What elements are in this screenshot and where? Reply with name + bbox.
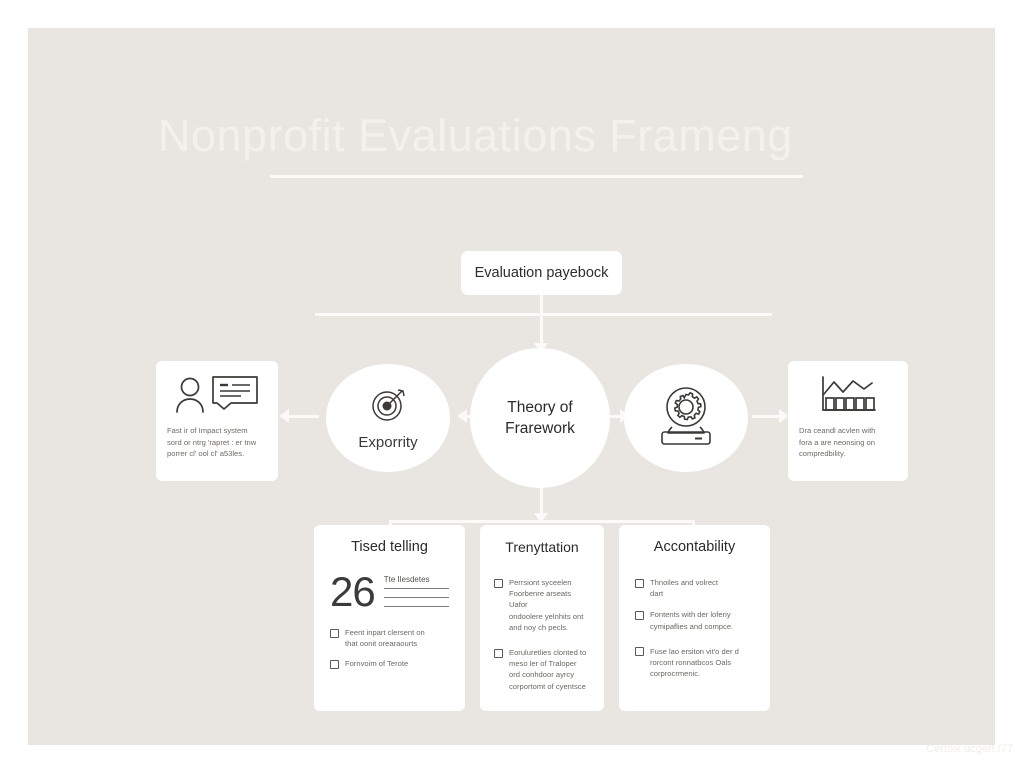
checkbox-icon[interactable]: [635, 611, 644, 620]
page-title: Nonprofit Evaluations Frameng: [158, 106, 918, 166]
stat-block: 26 Tte Ilesdetes: [330, 571, 449, 613]
bottom-card-trenyttation[interactable]: Trenyttation Perrsiont syceelenFoorbenre…: [480, 525, 604, 711]
list-item[interactable]: Fuse lao ersiton vit'o der drorcont ronn…: [635, 646, 754, 680]
checkbox-icon[interactable]: [635, 647, 644, 656]
right-info-card[interactable]: Dra ceandl acvlen with fora a are neonsi…: [788, 361, 908, 481]
left-info-line: Fast ir of Impact system: [167, 425, 267, 437]
right-info-line: Dra ceandl acvlen with: [799, 425, 897, 437]
list-item[interactable]: Fontents with der loferiycymipaflies and…: [635, 609, 754, 631]
checklist: Thnoiles and volrectdart Fontents with d…: [635, 577, 754, 679]
bottom-card-accontability[interactable]: Accontability Thnoiles and volrectdart F…: [619, 525, 770, 711]
right-info-card-text: Dra ceandl acvlen with fora a are neonsi…: [799, 425, 897, 460]
stat-detail: Tte Ilesdetes: [384, 571, 449, 607]
left-info-line: porrer cl' ool cl' a53les.: [167, 448, 267, 460]
slide-canvas: Nonprofit Evaluations Frameng Evaluation…: [28, 28, 995, 745]
list-item[interactable]: Eoruluretlies clonted tomeso ler of Tral…: [494, 647, 590, 692]
right-info-line: compredbility.: [799, 448, 897, 460]
person-speech-bubble-icon: [167, 374, 267, 414]
checkbox-icon[interactable]: [330, 660, 339, 669]
title-underline: [270, 175, 803, 178]
stat-rule: [384, 606, 449, 607]
bottom-card-tised-telling[interactable]: Tised telling 26 Tte Ilesdetes Feent inp…: [314, 525, 465, 711]
slide-root: Nonprofit Evaluations Frameng Evaluation…: [0, 0, 1024, 768]
left-info-card-text: Fast ir of Impact system sord or ntrg 'r…: [167, 425, 267, 460]
connector-right-circle-to-card: [752, 415, 781, 418]
checklist: Feent inpart clersent onthat oonit orear…: [330, 627, 449, 670]
left-info-line: sord or ntrg 'rapret : er tnw: [167, 437, 267, 449]
connector-left-circle-to-card: [286, 415, 319, 418]
checkbox-icon[interactable]: [494, 649, 503, 658]
connector-pill-stem: [540, 295, 543, 314]
connector-horizontal-spine: [315, 313, 772, 316]
list-item-label: Fornvoim of Terote: [345, 658, 408, 669]
list-item[interactable]: Thnoiles and volrectdart: [635, 577, 754, 599]
list-item-label: Eoruluretlies clonted tomeso ler of Tral…: [509, 647, 586, 692]
stat-rule: [384, 588, 449, 589]
bottom-card-title: Trenyttation: [494, 539, 590, 555]
list-item-label: Feent inpart clersent onthat oonit orear…: [345, 627, 425, 649]
list-item-label: Fuse lao ersiton vit'o der drorcont ronn…: [650, 646, 739, 680]
bottom-card-title: Accontability: [635, 539, 754, 555]
checkbox-icon[interactable]: [494, 579, 503, 588]
circle-node-operations[interactable]: [624, 364, 748, 472]
circle-node-label: Exporrity: [358, 434, 417, 451]
stat-rule: [384, 597, 449, 598]
evaluation-playbook-label: Evaluation payebock: [475, 265, 609, 281]
bottom-card-title: Tised telling: [330, 539, 449, 555]
evaluation-playbook-box[interactable]: Evaluation payebock: [461, 251, 622, 295]
checkbox-icon[interactable]: [330, 629, 339, 638]
stat-number: 26: [330, 571, 375, 613]
arrow-left-icon: [457, 409, 467, 423]
list-item[interactable]: Perrsiont syceelenFoorbenre arseats Uafo…: [494, 577, 590, 633]
list-item-label: Fontents with der loferiycymipaflies and…: [650, 609, 733, 631]
left-info-card[interactable]: Fast ir of Impact system sord or ntrg 'r…: [156, 361, 278, 481]
right-info-line: fora a are neonsing on: [799, 437, 897, 449]
connector-bracket-horizontal: [389, 520, 695, 523]
checklist: Perrsiont syceelenFoorbenre arseats Uafo…: [494, 577, 590, 692]
stat-caption: Tte Ilesdetes: [384, 575, 449, 584]
list-item-label: Perrsiont syceelenFoorbenre arseats Uafo…: [509, 577, 590, 633]
center-circle-line-2: Frarework: [505, 418, 575, 439]
list-item[interactable]: Feent inpart clersent onthat oonit orear…: [330, 627, 449, 649]
center-circle-line-1: Theory of: [507, 397, 572, 418]
checkbox-icon[interactable]: [635, 579, 644, 588]
bar-chart-icon: [799, 374, 897, 414]
arrow-left-icon: [279, 409, 289, 423]
list-item[interactable]: Fornvoim of Terote: [330, 658, 449, 669]
target-icon: [368, 385, 408, 430]
list-item-label: Thnoiles and volrectdart: [650, 577, 718, 599]
circle-node-exporrity[interactable]: Exporrity: [326, 364, 450, 472]
gear-stand-icon: [651, 385, 721, 452]
slide-footer: Certoix ucgert /77: [798, 743, 1013, 755]
circle-node-theory-of-framework[interactable]: Theory of Frarework: [470, 348, 610, 488]
